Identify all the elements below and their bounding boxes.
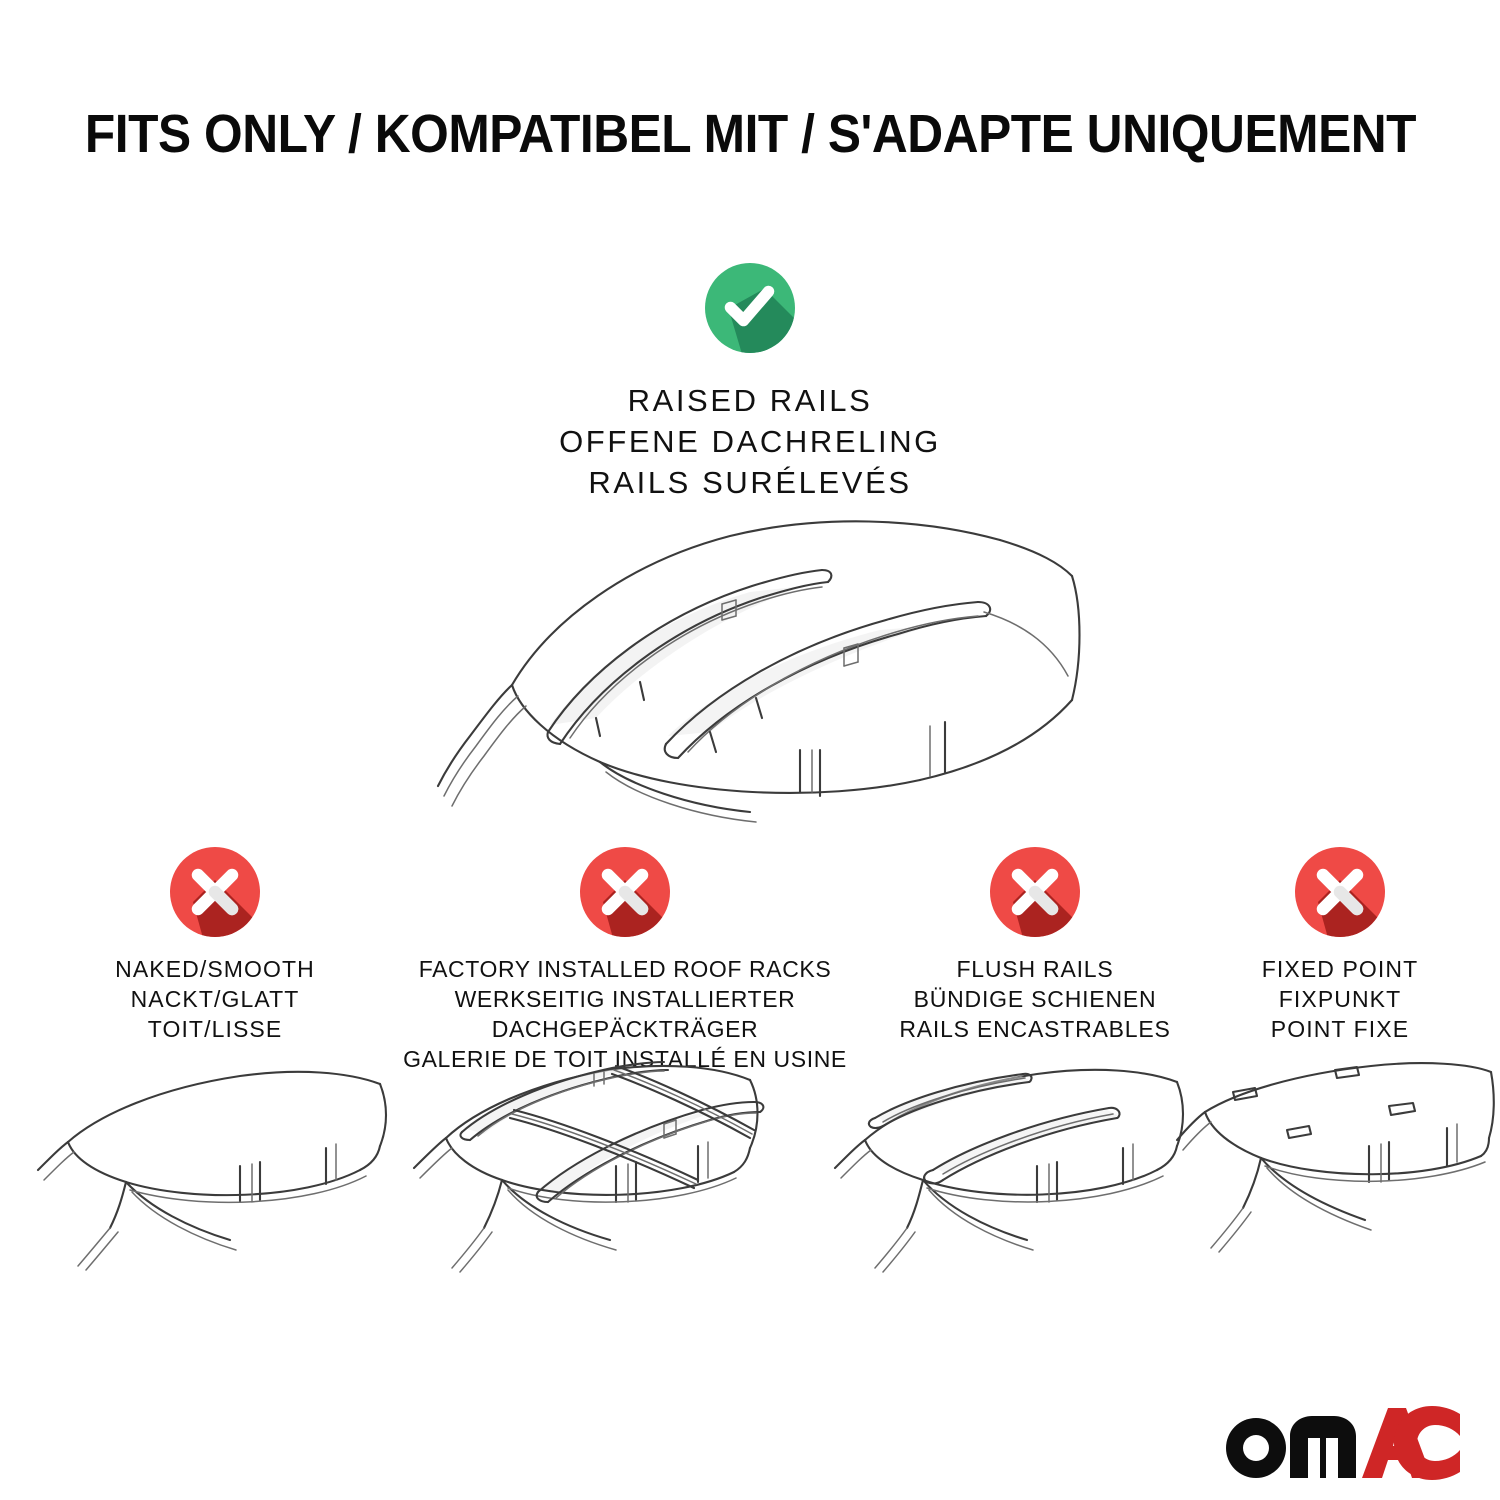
- incompatible-label-line: NAKED/SMOOTH: [35, 954, 395, 984]
- compatible-label: RAISED RAILS OFFENE DACHRELING RAILS SUR…: [0, 380, 1500, 503]
- x-circle-icon: [169, 846, 261, 938]
- omac-logo: [1222, 1404, 1462, 1482]
- incompatible-section: NAKED/SMOOTH NACKT/GLATT TOIT/LISSE FACT…: [0, 846, 1500, 1056]
- x-circle-icon: [579, 846, 671, 938]
- incompatible-label: FACTORY INSTALLED ROOF RACKS WERKSEITIG …: [395, 954, 855, 1074]
- incompatible-label-line: FACTORY INSTALLED ROOF RACKS: [395, 954, 855, 984]
- incompatible-label-line: DACHGEPÄCKTRÄGER: [395, 1014, 855, 1044]
- fixed-point-mount: [1233, 1067, 1359, 1100]
- incompatible-label: FLUSH RAILS BÜNDIGE SCHIENEN RAILS ENCAS…: [855, 954, 1215, 1044]
- car-roof-naked-smooth-illustration: [30, 1060, 400, 1310]
- incompatible-illustrations-row: [0, 1060, 1500, 1310]
- logo-letter-o: [1226, 1418, 1286, 1478]
- car-roof-factory-roof-racks-illustration: [398, 1060, 778, 1310]
- incompatible-label-line: RAILS ENCASTRABLES: [855, 1014, 1215, 1044]
- compatible-label-en: RAISED RAILS: [0, 380, 1500, 421]
- page-title: FITS ONLY / KOMPATIBEL MIT / S'ADAPTE UN…: [0, 104, 1500, 164]
- incompatible-label-line: FIXPUNKT: [1215, 984, 1465, 1014]
- x-circle-icon: [1294, 846, 1386, 938]
- fixed-point-mount: [1287, 1103, 1415, 1138]
- incompatible-label-line: FIXED POINT: [1215, 954, 1465, 984]
- incompatible-label-line: FLUSH RAILS: [855, 954, 1215, 984]
- page-title-text: FITS ONLY / KOMPATIBEL MIT / S'ADAPTE UN…: [84, 104, 1415, 164]
- incompatible-label-line: NACKT/GLATT: [35, 984, 395, 1014]
- car-roof-flush-rails-illustration: [825, 1060, 1195, 1310]
- incompatible-item-flush-rails: FLUSH RAILS BÜNDIGE SCHIENEN RAILS ENCAS…: [855, 846, 1215, 1044]
- incompatible-label-line: TOIT/LISSE: [35, 1014, 395, 1044]
- compatible-label-de: OFFENE DACHRELING: [0, 421, 1500, 462]
- incompatible-label-line: POINT FIXE: [1215, 1014, 1465, 1044]
- logo-letter-m: [1290, 1416, 1356, 1478]
- compatible-section: RAISED RAILS OFFENE DACHRELING RAILS SUR…: [0, 262, 1500, 503]
- incompatible-label: NAKED/SMOOTH NACKT/GLATT TOIT/LISSE: [35, 954, 395, 1044]
- car-roof-raised-rails-illustration: [400, 500, 1100, 830]
- incompatible-label: FIXED POINT FIXPUNKT POINT FIXE: [1215, 954, 1465, 1044]
- incompatible-item-fixed-point: FIXED POINT FIXPUNKT POINT FIXE: [1215, 846, 1465, 1044]
- check-circle-icon: [704, 262, 796, 354]
- car-roof-fixed-point-illustration: [1175, 1060, 1495, 1310]
- incompatible-item-naked-smooth: NAKED/SMOOTH NACKT/GLATT TOIT/LISSE: [35, 846, 395, 1044]
- incompatible-label-line: BÜNDIGE SCHIENEN: [855, 984, 1215, 1014]
- x-circle-icon: [989, 846, 1081, 938]
- compatible-label-fr: RAILS SURÉLEVÉS: [0, 462, 1500, 503]
- incompatible-label-line: WERKSEITIG INSTALLIERTER: [395, 984, 855, 1014]
- incompatible-item-factory-roof-racks: FACTORY INSTALLED ROOF RACKS WERKSEITIG …: [395, 846, 855, 1074]
